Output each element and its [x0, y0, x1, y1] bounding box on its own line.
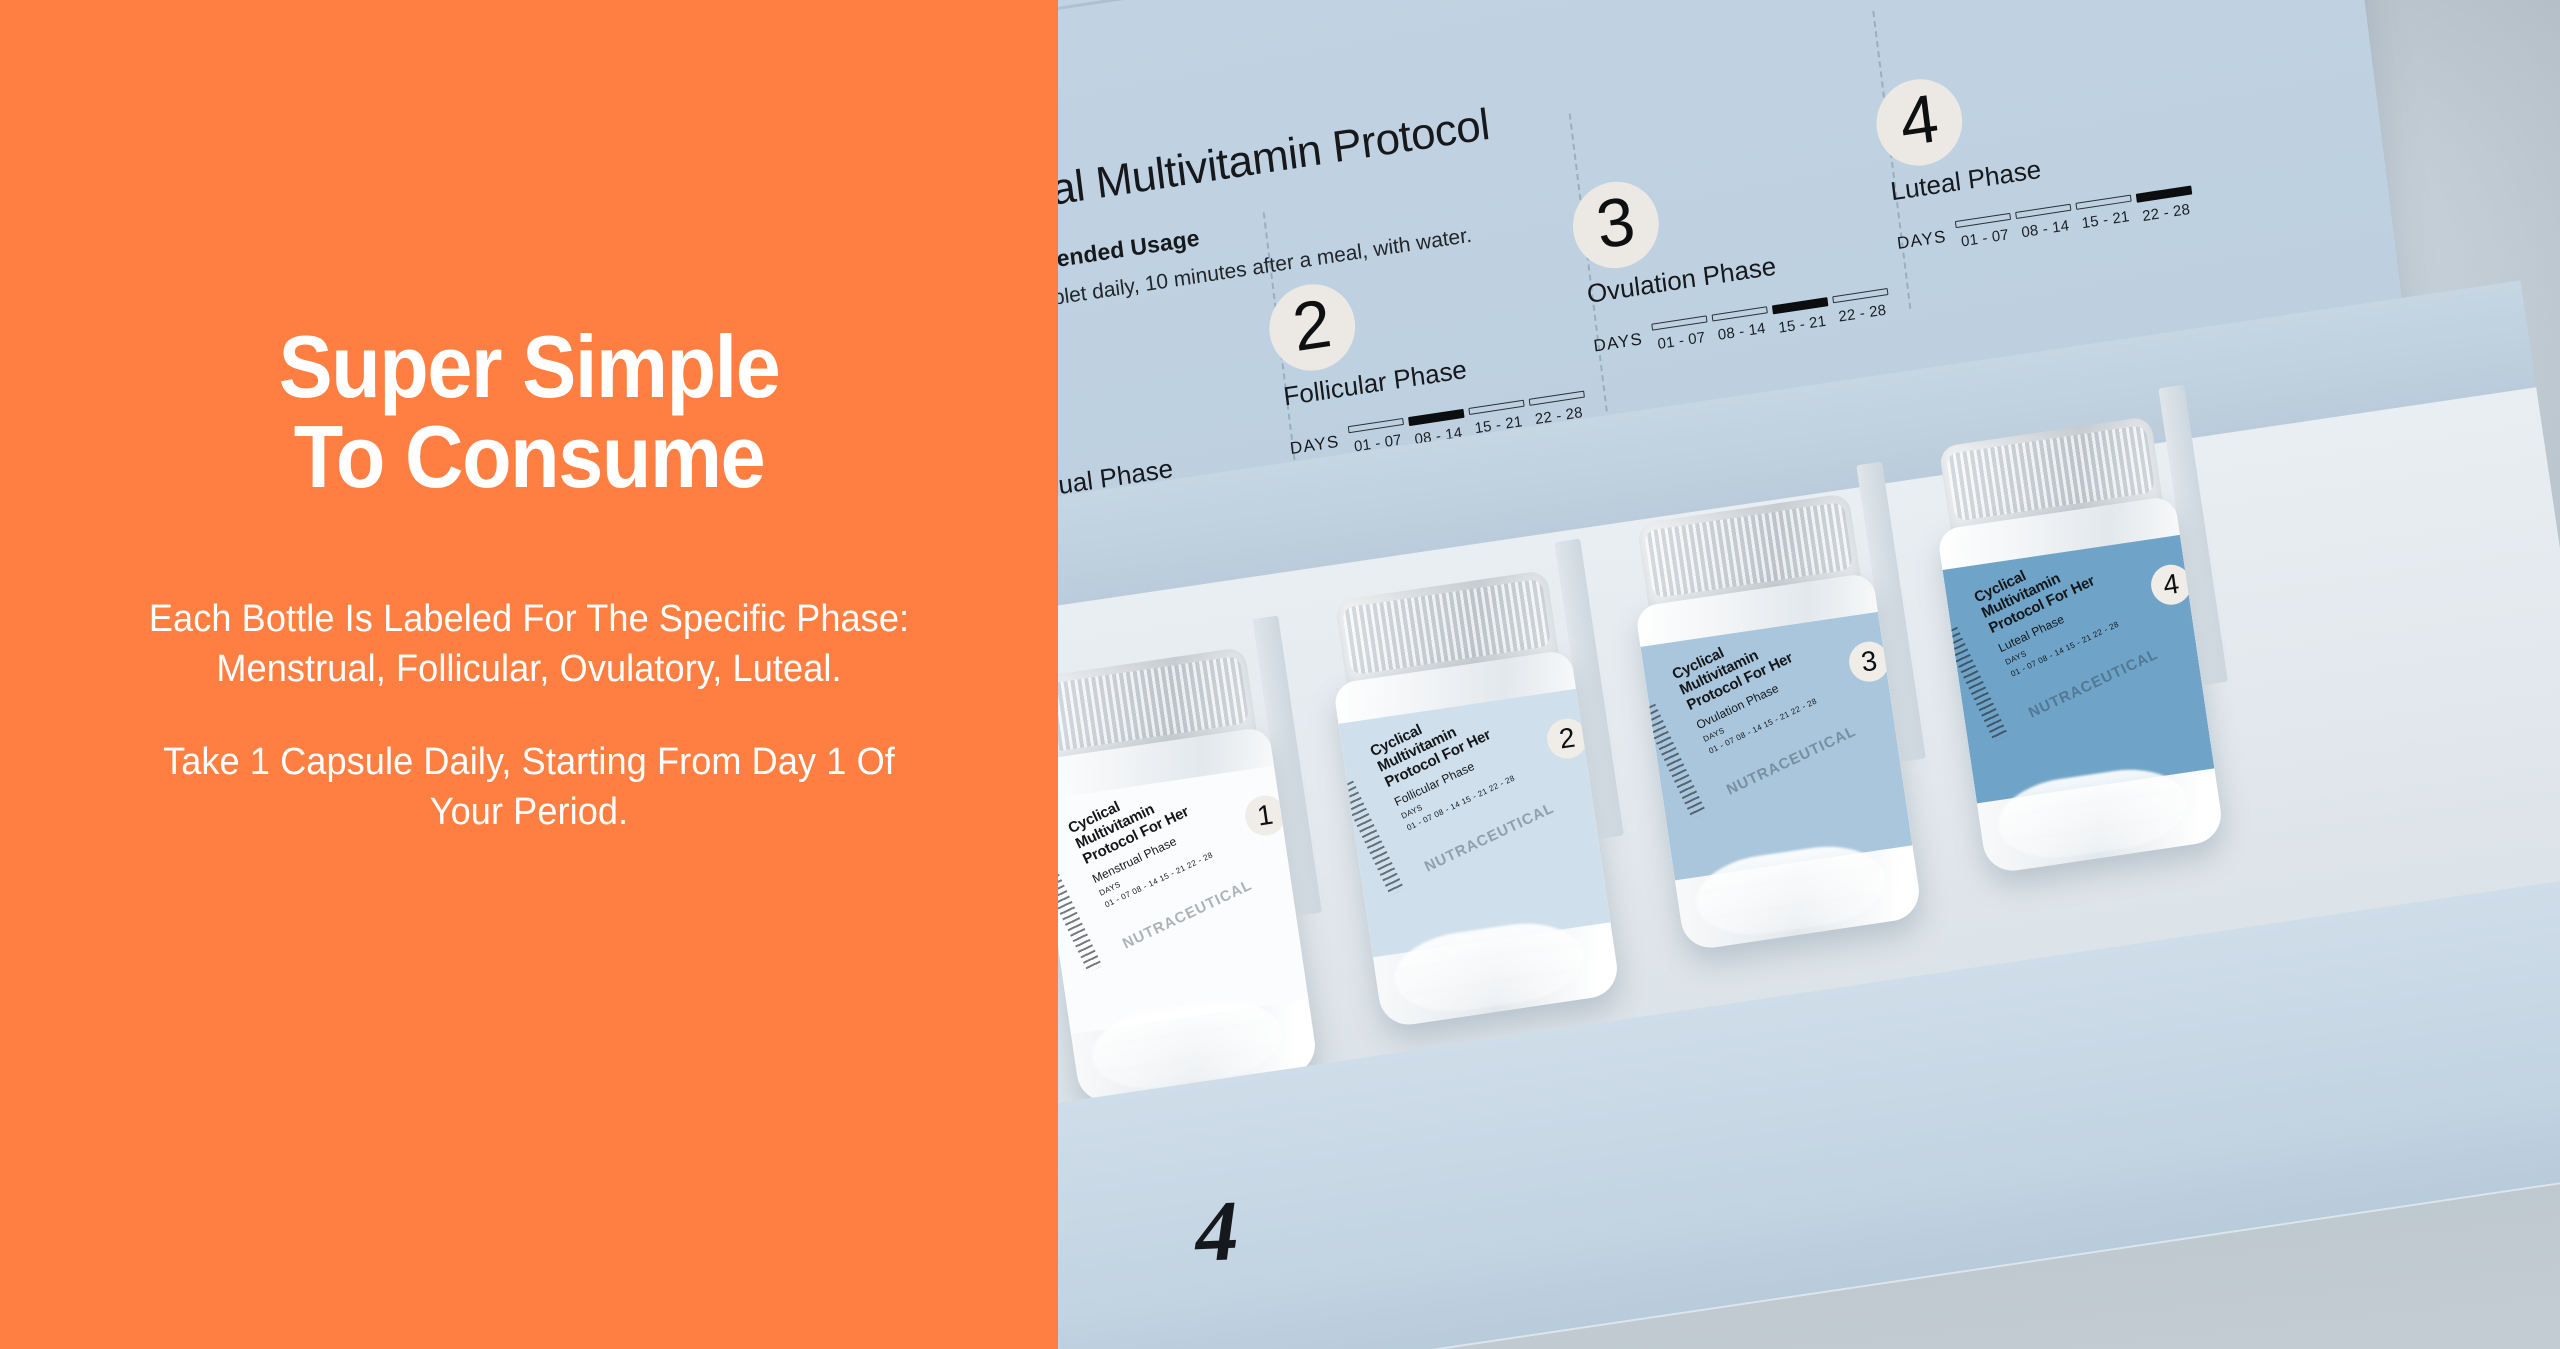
- day-segment: 15 - 21: [2075, 195, 2134, 235]
- phase-column-3: 3 Ovulation Phase DAYS 01 - 07 08 - 14 1…: [1568, 139, 1894, 188]
- phase-badge-2: 2: [1264, 278, 1360, 376]
- day-range-label: 22 - 28: [2137, 200, 2194, 225]
- phase-number-4: 4: [1896, 84, 1942, 157]
- days-label-3: DAYS: [1592, 325, 1644, 356]
- day-range-label: 15 - 21: [2077, 208, 2134, 233]
- day-segment: 08 - 14: [1711, 306, 1770, 346]
- day-segment: 01 - 07: [1651, 315, 1710, 355]
- day-segment: 08 - 14: [2015, 204, 2074, 244]
- phase-number-2: 2: [1289, 289, 1335, 362]
- product-photo: Cyclical Multivitamin Protocol Recommend…: [1058, 0, 2560, 1349]
- phase-badge-4: 4: [1872, 73, 1968, 171]
- label-text: Cyclical Multivitamin Protocol For Her F…: [1368, 689, 1599, 833]
- day-segments-4: 01 - 07 08 - 14 15 - 21 22 - 28: [1955, 185, 2195, 253]
- phase-badge-3: 3: [1568, 176, 1664, 274]
- day-range-label: 08 - 14: [1713, 319, 1770, 344]
- page-title: Super Simple To Consume: [133, 322, 924, 502]
- day-segment-bar: [1529, 391, 1585, 406]
- day-segment-bar: [2015, 204, 2071, 219]
- day-segment-bar: [1348, 418, 1404, 433]
- protocol-title: Cyclical Multivitamin Protocol: [1058, 100, 1492, 233]
- headline-line-2: To Consume: [133, 412, 924, 502]
- promo-slide: Super Simple To Consume Each Bottle Is L…: [0, 0, 2560, 1349]
- body-paragraph-2: Take 1 Capsule Daily, Starting From Day …: [130, 737, 928, 838]
- day-segment: 01 - 07: [1955, 213, 2014, 253]
- day-segment-bar: [2136, 185, 2192, 202]
- day-segment: 22 - 28: [1832, 288, 1891, 328]
- day-segment-bar: [1711, 306, 1767, 321]
- phase-column-4: 4 Luteal Phase DAYS 01 - 07 08 - 14 15 -…: [1872, 37, 2198, 86]
- day-range-label: 15 - 21: [1774, 312, 1831, 337]
- day-segment-bar: [1408, 409, 1464, 426]
- day-segment: 15 - 21: [1772, 297, 1831, 337]
- bottle-label-4: Cyclical Multivitamin Protocol For Her L…: [1943, 535, 2215, 804]
- bottle-body: Cyclical Multivitamin Protocol For Her F…: [1333, 649, 1621, 1028]
- bottle-body: Cyclical Multivitamin Protocol For Her L…: [1937, 495, 2225, 874]
- day-segment-bar: [1651, 315, 1707, 330]
- day-segment-bar: [1772, 297, 1828, 314]
- day-segment-bar: [2075, 195, 2131, 210]
- day-segment: 22 - 28: [2136, 185, 2195, 225]
- day-segment-bar: [1955, 213, 2011, 228]
- label-text: Cyclical Multivitamin Protocol For Her O…: [1670, 612, 1901, 756]
- phase-column-1: 1 Menstrual Phase DAYS 01 - 07 08 - 14 1…: [1058, 342, 1287, 391]
- day-range-label: 01 - 07: [1956, 226, 2013, 251]
- body-copy: Each Bottle Is Labeled For The Specific …: [130, 594, 928, 838]
- day-segments-3: 01 - 07 08 - 14 15 - 21 22 - 28: [1651, 288, 1891, 356]
- body-paragraph-1: Each Bottle Is Labeled For The Specific …: [130, 594, 928, 695]
- brand-logo-icon: 4: [1193, 1180, 1240, 1282]
- days-label-2: DAYS: [1288, 428, 1340, 459]
- day-segment-bar: [1468, 400, 1524, 415]
- phase-number-3: 3: [1593, 186, 1639, 259]
- day-segment-bar: [1832, 288, 1888, 303]
- bottle-body: Cyclical Multivitamin Protocol For Her O…: [1635, 572, 1923, 951]
- label-text: Cyclical Multivitamin Protocol For Her L…: [1972, 535, 2203, 679]
- bottle-label-2: Cyclical Multivitamin Protocol For Her F…: [1339, 689, 1611, 958]
- day-range-label: 22 - 28: [1834, 301, 1891, 326]
- day-range-label: 08 - 14: [2017, 217, 2074, 242]
- day-range-label: 01 - 07: [1653, 328, 1710, 353]
- bottle-label-1: Cyclical Multivitamin Protocol For Her M…: [1058, 766, 1308, 1035]
- label-text: Cyclical Multivitamin Protocol For Her M…: [1066, 766, 1297, 910]
- days-label-4: DAYS: [1896, 223, 1948, 254]
- bottle-label-3: Cyclical Multivitamin Protocol For Her O…: [1641, 612, 1913, 881]
- headline-line-1: Super Simple: [133, 322, 924, 412]
- left-copy-panel: Super Simple To Consume Each Bottle Is L…: [0, 0, 1058, 1349]
